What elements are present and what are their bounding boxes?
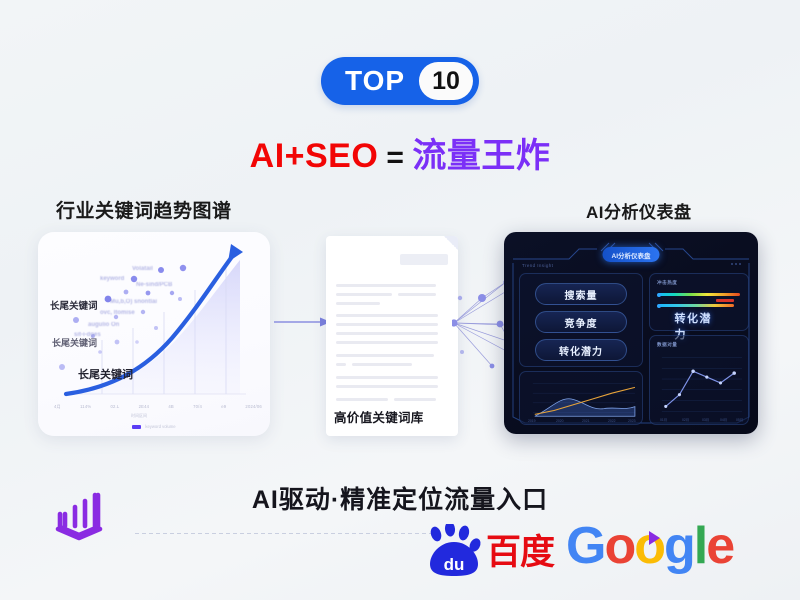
- line-x-tick: 02月: [682, 417, 689, 422]
- dashboard-screen: AI分析仪表盘 Trend Insight 搜索量 竞争度 转化潜力: [509, 237, 753, 429]
- trend-blur-word: augulio On: [88, 322, 119, 328]
- document-caption: 高价值关键词库: [334, 407, 424, 426]
- doc-text-line: [336, 385, 438, 388]
- dot: [735, 263, 737, 265]
- heat-panel-label: 冲击热度: [657, 280, 677, 286]
- x-tick: 2E44: [139, 404, 150, 410]
- top-badge-number: 10: [419, 62, 473, 100]
- trend-blur-word: Mu,b,O) snontlai: [110, 299, 157, 305]
- doc-text-line: [336, 314, 438, 317]
- headline-right: 流量王炸: [412, 137, 550, 175]
- dot: [739, 263, 741, 265]
- dashboard-menu-dots-icon[interactable]: [731, 263, 741, 265]
- x-tick: 70/4: [193, 404, 202, 410]
- line-x-tick: 04月: [720, 417, 727, 422]
- google-letter: o: [634, 520, 664, 572]
- doc-text-line: [394, 398, 436, 401]
- legend-label: keyword volume: [145, 424, 175, 429]
- google-logo: Google: [566, 520, 733, 572]
- trend-blur-word: Ne-sind/PCB: [136, 282, 172, 288]
- doc-text-line: [336, 341, 438, 344]
- keyword-label-2: 长尾关键词: [52, 336, 97, 349]
- x-tick: 114%: [80, 404, 91, 410]
- doc-text-line: [336, 332, 438, 335]
- alert-chip: [716, 299, 734, 302]
- flow-arrow-icon: [274, 316, 332, 328]
- x-tick: 4B: [168, 404, 174, 410]
- keyword-library-document: 高价值关键词库: [326, 236, 458, 436]
- heat-bar-marker-icon: [657, 293, 661, 297]
- trend-blur-word: ovc, ltomise: [100, 310, 135, 316]
- line-chart-svg: [650, 336, 748, 424]
- area-x-tick: 2022: [608, 419, 616, 423]
- google-letter: l: [694, 520, 706, 572]
- page-title: AI+SEO=流量王炸: [0, 128, 800, 177]
- metric-button-search-volume[interactable]: 搜索量: [535, 283, 627, 305]
- trend-legend: keyword volume: [38, 424, 270, 429]
- baidu-wordmark: 百度: [486, 535, 554, 570]
- x-tick: 2024/06: [245, 404, 262, 410]
- bottom-divider: [135, 533, 435, 534]
- area-x-tick: 2020: [556, 419, 564, 423]
- area-chart-svg: [520, 372, 642, 424]
- line-x-tick: 05月: [736, 417, 743, 422]
- top-badge-word: TOP: [345, 67, 419, 95]
- trend-arrow-head: [228, 244, 243, 262]
- trend-panel-label: 数据对量: [657, 342, 677, 348]
- doc-text-line: [398, 293, 436, 296]
- trend-blur-word: Volatail: [132, 266, 153, 272]
- line-x-tick: 01月: [660, 417, 667, 422]
- trend-blur-word: keyword: [100, 276, 124, 282]
- keyword-label-3: 长尾关键词: [78, 366, 133, 382]
- doc-text-line: [336, 354, 434, 357]
- ai-dashboard: AI分析仪表盘 Trend Insight 搜索量 竞争度 转化潜力: [504, 232, 758, 434]
- doc-text-line: [336, 398, 388, 401]
- area-x-tick: 2021: [582, 419, 590, 423]
- doc-text-line: [352, 363, 412, 366]
- trend-line-panel: 数据对量: [649, 335, 749, 425]
- slide-canvas: TOP 10 AI+SEO=流量王炸 行业关键词趋势图谱 AI分析仪表盘: [0, 0, 800, 600]
- x-tick: 02.L: [110, 404, 119, 410]
- top-rank-badge: TOP 10: [321, 57, 479, 105]
- baidu-logo: du 百度: [424, 524, 559, 580]
- dot: [731, 263, 733, 265]
- play-triangle-icon: [649, 531, 660, 545]
- metrics-panel: 搜索量 竞争度 转化潜力: [519, 273, 643, 367]
- doc-text-line: [336, 293, 392, 296]
- google-letter: e: [706, 520, 733, 572]
- bar-chart-icon: [48, 482, 110, 544]
- google-letter: g: [664, 520, 694, 572]
- doc-text-line: [336, 323, 438, 326]
- doc-text-line: [336, 284, 436, 287]
- legend-swatch-icon: [132, 425, 141, 429]
- doc-header-block: [400, 254, 448, 265]
- potential-bar-marker-icon: [657, 304, 661, 308]
- metric-button-competition[interactable]: 竞争度: [535, 311, 627, 333]
- doc-text-line: [336, 363, 346, 366]
- dashboard-title-badge: AI分析仪表盘: [603, 247, 660, 262]
- doc-text-line: [336, 376, 438, 379]
- headline-left: AI+SEO: [250, 137, 379, 175]
- area-x-tick: 2019: [528, 419, 536, 423]
- bottom-slogan: AI驱动·精准定位流量入口: [0, 480, 800, 516]
- doc-text-line: [336, 302, 380, 305]
- left-section-caption: 行业关键词趋势图谱: [56, 196, 232, 223]
- area-x-tick: 2023: [628, 419, 636, 423]
- keyword-trend-card: Volatail Ne-sind/PCB keyword Mu,b,O) sno…: [38, 232, 270, 436]
- google-letter: o: [604, 520, 634, 572]
- x-tick: e9: [221, 404, 226, 410]
- keyword-label-1: 长尾关键词: [50, 298, 98, 312]
- right-section-caption: AI分析仪表盘: [586, 198, 692, 223]
- baidu-du-text: du: [444, 555, 465, 574]
- page-fold-icon: [444, 236, 458, 250]
- baidu-paw-icon: du: [424, 524, 484, 580]
- line-x-tick: 03月: [702, 417, 709, 422]
- heat-gradient-bar: [658, 293, 740, 296]
- dashboard-brand-label: Trend Insight: [522, 263, 553, 268]
- google-letter: G: [566, 520, 604, 572]
- potential-gradient-bar: [658, 304, 734, 307]
- headline-equals: =: [386, 141, 404, 174]
- heat-gauge-panel: 冲击热度 转化潜力: [649, 273, 749, 331]
- trend-x-title: 时间区间: [38, 413, 240, 419]
- x-tick: 4月: [54, 404, 61, 410]
- metric-button-conversion[interactable]: 转化潜力: [535, 339, 627, 361]
- trend-x-axis: 4月 114% 02.L 2E44 4B 70/4 e9 2024/06: [54, 404, 262, 410]
- area-chart-panel: 2019 2020 2021 2022 2023: [519, 371, 643, 425]
